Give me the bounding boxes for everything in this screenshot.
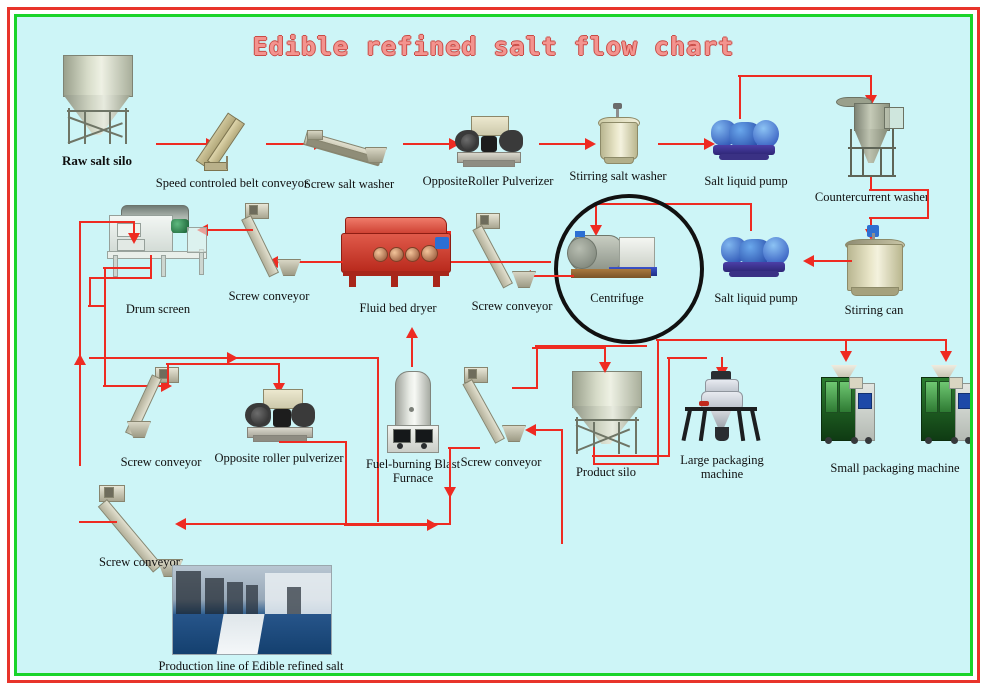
connector-silo-bottom-a	[593, 463, 659, 465]
arrowhead-down	[940, 351, 952, 362]
connector-screw-washer-to-pulverizer	[403, 143, 451, 145]
node-salt-liquid-pump-2[interactable]: Salt liquid pump	[719, 229, 793, 324]
label-salt-liquid-pump-1: Salt liquid pump	[704, 174, 787, 188]
arrowhead-left	[175, 518, 186, 530]
label-speed-controled-belt-conveyor: Speed controled belt conveyor	[156, 176, 308, 190]
arrowhead-left	[803, 255, 814, 267]
label-countercurrent-washer: Countercurrent washer	[815, 190, 929, 204]
node-stirring-can[interactable]: Stirring can	[835, 217, 913, 322]
connector-bottom-return-c	[448, 447, 480, 449]
node-speed-controled-belt-conveyor[interactable]: Speed controled belt conveyor	[202, 112, 262, 207]
arrowhead-up	[74, 354, 86, 365]
connector-bottom-return-a	[183, 523, 451, 525]
connector-pump1-up	[739, 75, 741, 119]
node-screw-conveyor-4[interactable]: Screw conveyor	[460, 367, 542, 477]
node-small-packaging-machine[interactable]: Small packaging machine	[797, 365, 970, 483]
belt-conveyor-icon	[202, 112, 262, 170]
connector-orp-out-a	[279, 441, 347, 443]
node-drum-screen[interactable]: Drum screen	[103, 199, 213, 309]
cyclone-washer-icon	[832, 93, 912, 188]
connector-fbd-to-sc2-a	[449, 261, 551, 263]
roller-pulverizer-icon	[239, 385, 319, 445]
arrowhead-left	[525, 424, 536, 436]
node-fuel-burning-blast-furnace[interactable]: Fuel-burning Blast Furnace	[377, 367, 449, 485]
blast-furnace-icon	[377, 367, 449, 455]
page-title: Edible refined salt flow chart	[17, 32, 970, 61]
connector-pulverizer-to-stirring-washer	[539, 143, 587, 145]
large-packaging-icon	[677, 369, 767, 459]
connector-into-orp	[278, 363, 280, 385]
label-large-packaging-machine: Large packaging machine	[672, 453, 772, 482]
connector-stirring-can-to-pump2	[812, 260, 852, 262]
arrowhead-down	[128, 233, 140, 244]
connector-stirring-washer-to-pump1	[658, 143, 706, 145]
label-product-silo: Product silo	[576, 465, 636, 479]
connector-sc3-out-c	[166, 363, 280, 365]
screw-trough-icon	[303, 117, 395, 169]
screw-conveyor-icon	[121, 367, 201, 447]
pump-icon	[719, 229, 793, 287]
connector-silo-feedback-riser	[561, 429, 563, 544]
label-screw-conveyor-2: Screw conveyor	[472, 299, 553, 313]
fluid-bed-dryer-icon	[339, 215, 457, 297]
connector-pump2-up	[750, 203, 752, 231]
connector-drum-out-c	[89, 277, 91, 307]
screw-conveyor-icon	[472, 213, 552, 293]
label-drum-screen: Drum screen	[126, 302, 190, 316]
node-large-packaging-machine[interactable]: Large packaging machine	[677, 369, 767, 487]
connector-loop-into-drum-top	[79, 221, 135, 223]
connector-into-sc4-b	[536, 345, 538, 389]
arrowhead-up	[406, 327, 418, 338]
label-oppositeroller-pulverizer: OppositeRoller Pulverizer	[423, 174, 554, 188]
arrowhead-right	[427, 519, 438, 531]
label-opposite-roller-pulverizer: Opposite roller pulverizer	[214, 451, 343, 465]
node-countercurrent-washer[interactable]: Countercurrent washer	[832, 93, 912, 198]
connector-into-sc4-a	[512, 387, 538, 389]
node-centrifuge[interactable]: Centrifuge	[557, 225, 677, 325]
connector-furnace-up	[411, 335, 413, 367]
silo-icon	[57, 55, 137, 150]
arrowhead-down	[599, 362, 611, 373]
node-salt-liquid-pump-1[interactable]: Salt liquid pump	[709, 112, 783, 207]
label-fluid-bed-dryer: Fluid bed dryer	[359, 301, 436, 315]
flowchart-page: Edible refined salt flow chart Raw salt …	[0, 0, 987, 690]
connector-drum-out-f	[103, 267, 151, 269]
stirring-can-icon	[835, 217, 913, 299]
connector-sc4-to-silo	[533, 429, 563, 431]
connector-orp-out-b	[345, 441, 347, 526]
label-raw-salt-silo: Raw salt silo	[62, 154, 132, 169]
connector-packaging-bus	[656, 339, 946, 341]
connector-sc3-out-b	[167, 363, 169, 385]
connector-drum-out-e	[104, 267, 106, 387]
connector-cc-down2	[927, 189, 929, 219]
node-production-line-photo[interactable]: Production line of Edible refined salt	[172, 565, 342, 673]
centrifuge-icon	[557, 225, 677, 285]
connector-into-silo-a	[532, 347, 606, 349]
stirring-tank-icon	[588, 103, 648, 165]
roller-pulverizer-icon	[449, 112, 527, 170]
node-screw-conveyor-2[interactable]: Screw conveyor	[472, 213, 552, 318]
factory-photo	[172, 565, 332, 655]
label-screw-conveyor-5: Screw conveyor	[99, 555, 180, 569]
connector-silo-to-belt	[156, 143, 208, 145]
node-fluid-bed-dryer[interactable]: Fluid bed dryer	[339, 215, 457, 320]
label-fuel-burning-blast-furnace: Fuel-burning Blast Furnace	[358, 457, 468, 486]
screw-conveyor-icon	[229, 203, 309, 283]
label-production-line-photo: Production line of Edible refined salt	[158, 659, 343, 673]
small-packaging-icon	[805, 365, 895, 457]
small-packaging-icon	[905, 365, 970, 457]
node-screw-conveyor-1[interactable]: Screw conveyor	[229, 203, 309, 313]
silo-icon	[565, 369, 647, 461]
connector-drum-out-b	[89, 277, 152, 279]
label-screw-conveyor-1: Screw conveyor	[229, 289, 310, 303]
label-screw-salt-washer: Screw salt washer	[304, 177, 394, 191]
node-screw-conveyor-5[interactable]: Screw conveyor	[77, 479, 187, 589]
node-screw-salt-washer[interactable]: Screw salt washer	[303, 117, 395, 207]
connector-silo-riser	[657, 339, 659, 465]
label-stirring-salt-washer: Stirring salt washer	[569, 169, 666, 183]
arrowhead-down	[444, 487, 456, 498]
connector-cc-right	[869, 189, 929, 191]
node-oppositeroller-pulverizer[interactable]: OppositeRoller Pulverizer	[449, 112, 527, 207]
connector-silo-riser-2	[668, 357, 670, 457]
connector-into-sc5	[79, 521, 117, 523]
label-stirring-can: Stirring can	[845, 303, 904, 317]
label-small-packaging-machine: Small packaging machine	[830, 461, 959, 475]
connector-loop-left-riser	[79, 221, 81, 466]
arrowhead-down	[840, 351, 852, 362]
pump-icon	[709, 112, 783, 170]
node-stirring-salt-washer[interactable]: Stirring salt washer	[588, 103, 648, 203]
node-raw-salt-silo[interactable]: Raw salt silo	[57, 55, 137, 160]
label-screw-conveyor-4: Screw conveyor	[461, 455, 542, 469]
label-screw-conveyor-3: Screw conveyor	[121, 455, 202, 469]
node-screw-conveyor-3[interactable]: Screw conveyor	[121, 367, 201, 477]
connector-pump1-across	[738, 75, 872, 77]
diagram-canvas: Edible refined salt flow chart Raw salt …	[17, 17, 970, 673]
connector-bottom-return-b	[449, 447, 451, 525]
label-centrifuge: Centrifuge	[590, 291, 643, 305]
node-opposite-roller-pulverizer[interactable]: Opposite roller pulverizer	[239, 385, 319, 493]
connector-packaging-bus-2	[667, 357, 707, 359]
label-salt-liquid-pump-2: Salt liquid pump	[714, 291, 797, 305]
